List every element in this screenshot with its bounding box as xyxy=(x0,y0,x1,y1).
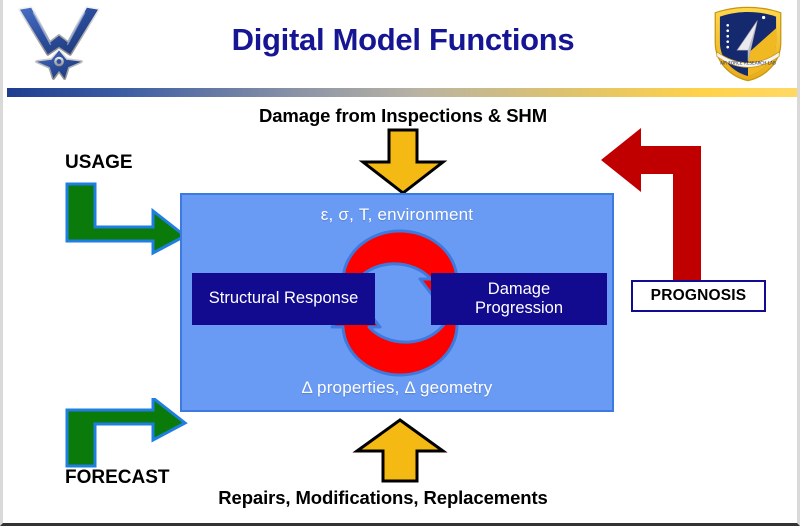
page-title: Digital Model Functions xyxy=(113,22,693,58)
header-divider-bar xyxy=(7,87,799,97)
afrl-shield-logo: AIR FORCE RESEARCH LAB xyxy=(709,5,787,83)
label-repairs-modifications: Repairs, Modifications, Replacements xyxy=(3,487,763,509)
svg-text:AIR FORCE RESEARCH LAB: AIR FORCE RESEARCH LAB xyxy=(720,60,776,65)
label-forecast: FORECAST xyxy=(65,467,170,489)
slide-canvas: AIR FORCE RESEARCH LAB Digital Model Fun… xyxy=(0,0,800,526)
label-delta-properties: Δ properties, Δ geometry xyxy=(182,378,612,398)
digital-model-process-box: ε, σ, T, environment Structural Response… xyxy=(180,193,614,412)
prognosis-elbow-arrow-icon xyxy=(599,124,731,294)
forecast-elbow-arrow-icon xyxy=(63,398,189,470)
label-usage: USAGE xyxy=(65,152,133,174)
node-structural-response[interactable]: Structural Response xyxy=(192,273,375,325)
node-damage-line1: Damage xyxy=(475,280,563,299)
usage-elbow-arrow-icon xyxy=(63,181,189,256)
node-damage-progression[interactable]: Damage Progression xyxy=(431,273,607,325)
prognosis-output-box[interactable]: PROGNOSIS xyxy=(631,280,766,312)
up-arrow-icon xyxy=(348,418,452,484)
down-arrow-icon xyxy=(353,128,453,196)
us-air-force-wings-logo xyxy=(11,4,107,82)
node-damage-line2: Progression xyxy=(475,299,563,318)
